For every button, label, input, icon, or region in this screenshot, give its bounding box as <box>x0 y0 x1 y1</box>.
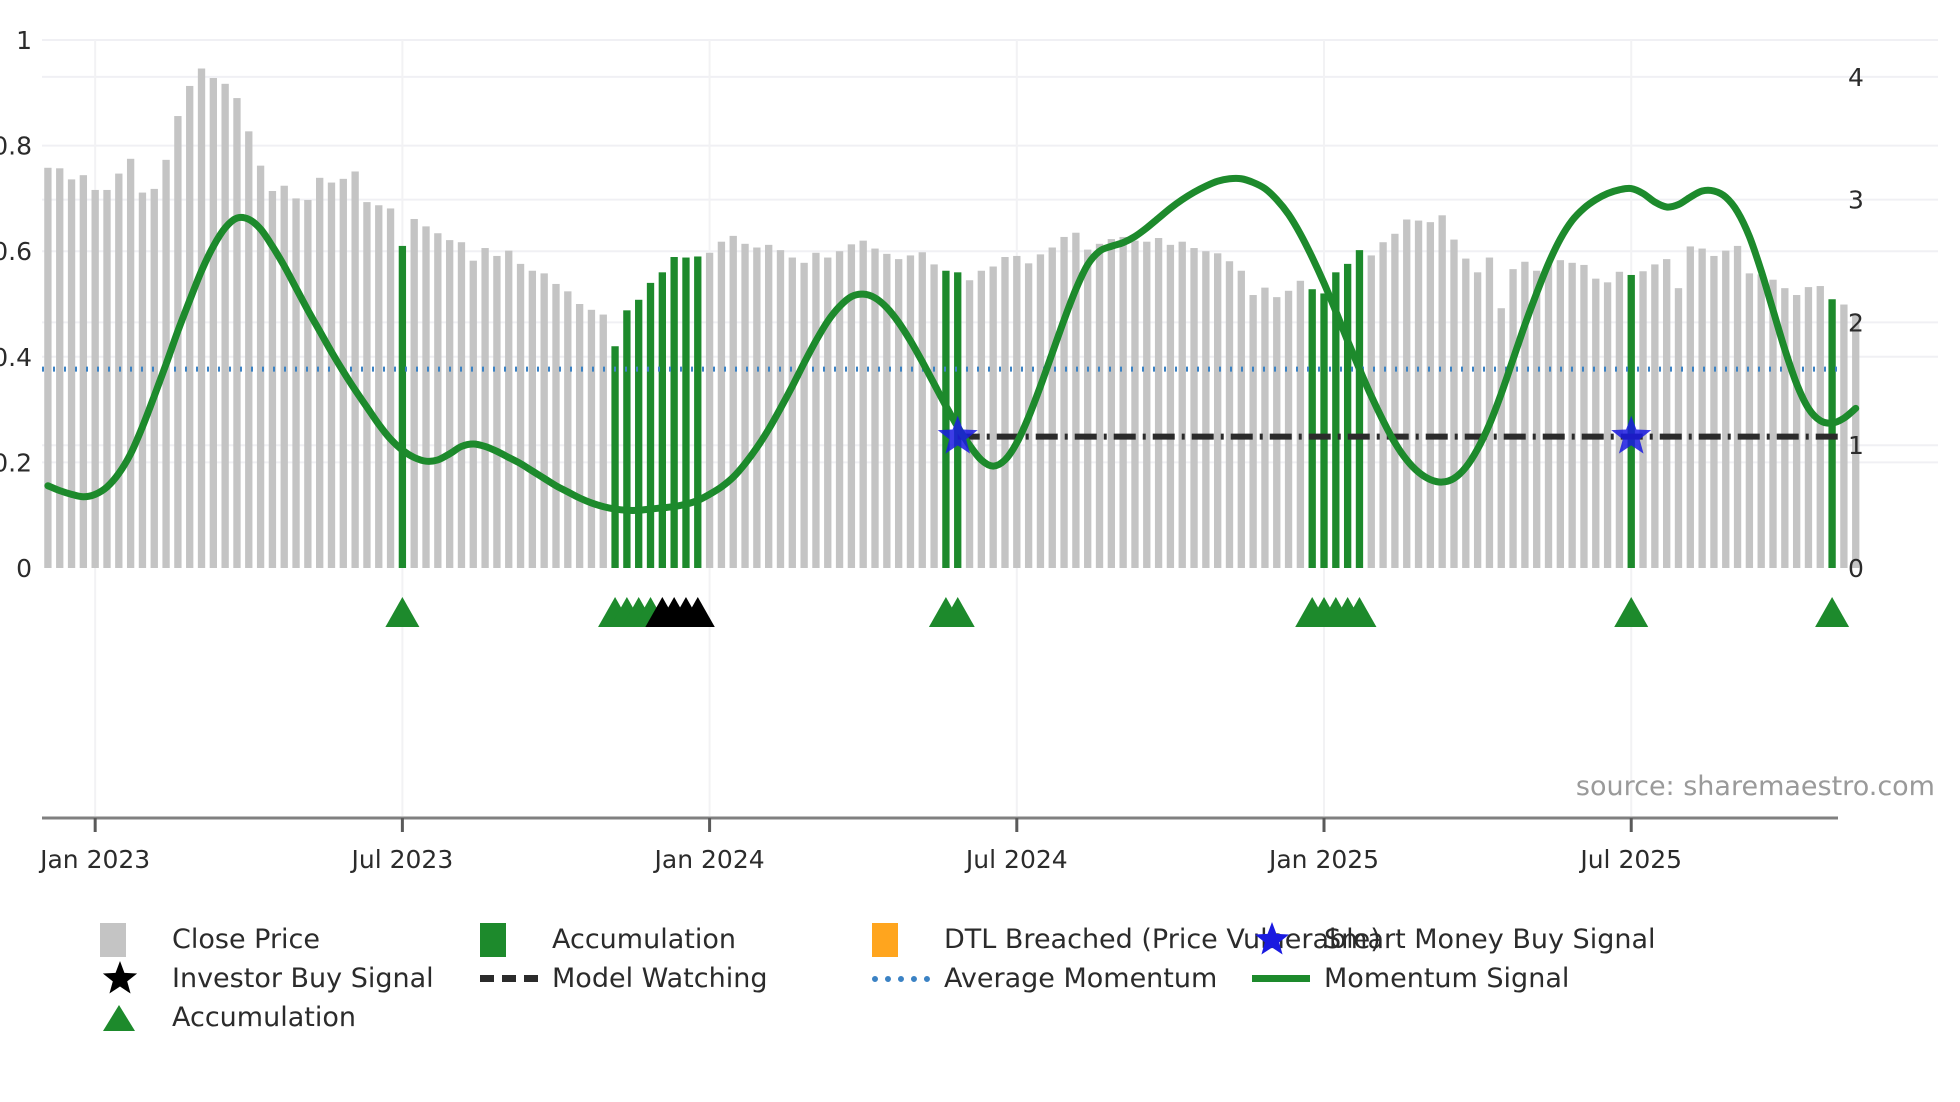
legend-item-label: Investor Buy Signal <box>172 965 434 992</box>
left-axis-tick-label: 1 <box>16 26 32 55</box>
left-axis-tick-label: 0 <box>16 554 32 583</box>
legend-item-label: Momentum Signal <box>1324 965 1569 992</box>
right-axis-tick-label: 4 <box>1848 63 1864 92</box>
legend-item[interactable]: Average Momentum <box>872 959 1252 998</box>
legend-row: Close PriceAccumulationDTL Breached (Pri… <box>100 920 1960 959</box>
left-axis-tick-label: 0.8 <box>0 132 32 161</box>
legend-item[interactable]: Model Watching <box>480 959 872 998</box>
left-axis-tick-label: 0.6 <box>0 237 32 266</box>
legend-item[interactable]: Momentum Signal <box>1252 959 1652 998</box>
legend-item-label: Smart Money Buy Signal <box>1324 926 1656 953</box>
legend-item[interactable]: DTL Breached (Price Vulnerable) <box>872 920 1252 959</box>
legend-row: Investor Buy SignalModel WatchingAverage… <box>100 959 1960 998</box>
x-axis-tick-label: Jan 2023 <box>38 845 150 874</box>
legend-item[interactable]: Investor Buy Signal <box>100 959 480 998</box>
right-axis-tick-label: 0 <box>1848 554 1864 583</box>
legend-swatch-accumulation <box>480 920 544 959</box>
legend-row: Accumulation <box>100 998 1960 1037</box>
legend-item-label: Close Price <box>172 926 320 953</box>
legend-item-label: Accumulation <box>172 1004 356 1031</box>
legend-star-investor-buy-icon <box>100 959 164 998</box>
legend-swatch-close-price <box>100 920 164 959</box>
chart-page: 00.20.40.60.81 01234 Jan 2023Jul 2023Jan… <box>0 0 1960 1102</box>
chart-plot-area: 00.20.40.60.81 01234 Jan 2023Jul 2023Jan… <box>0 0 1960 900</box>
legend-line-model-watching <box>480 959 544 998</box>
legend-item-label: Average Momentum <box>944 965 1217 992</box>
axis-lines <box>42 818 1838 832</box>
financial-chart-svg: 00.20.40.60.81 01234 Jan 2023Jul 2023Jan… <box>0 0 1960 900</box>
right-axis-tick-label: 1 <box>1848 431 1864 460</box>
x-axis-tick-label: Jul 2023 <box>350 845 454 874</box>
legend-item[interactable]: Accumulation <box>100 998 480 1037</box>
x-axis-tick-label: Jul 2024 <box>964 845 1068 874</box>
left-axis-ticks: 00.20.40.60.81 <box>0 26 32 583</box>
legend-item-label: Model Watching <box>552 965 767 992</box>
left-axis-tick-label: 0.2 <box>0 448 32 477</box>
legend-line-average-momentum <box>872 959 936 998</box>
x-axis-tick-label: Jul 2025 <box>1578 845 1682 874</box>
legend-line-momentum-signal <box>1252 959 1316 998</box>
close-price-bars <box>44 69 1859 568</box>
legend-item[interactable]: Close Price <box>100 920 480 959</box>
legend-item[interactable]: Smart Money Buy Signal <box>1252 920 1652 959</box>
right-axis-tick-label: 3 <box>1848 186 1864 215</box>
legend-item[interactable]: Accumulation <box>480 920 872 959</box>
legend-item-label: Accumulation <box>552 926 736 953</box>
left-axis-tick-label: 0.4 <box>0 343 32 372</box>
legend-triangle-accumulation-icon <box>100 998 164 1037</box>
x-axis-tick-label: Jan 2024 <box>653 845 765 874</box>
x-axis-tick-label: Jan 2025 <box>1267 845 1379 874</box>
source-attribution: source: sharemaestro.com <box>1576 771 1935 802</box>
legend-swatch-dtl-breached <box>872 920 936 959</box>
x-axis-ticks: Jan 2023Jul 2023Jan 2024Jul 2024Jan 2025… <box>38 845 1682 874</box>
accumulation-triangle-markers <box>385 597 1849 627</box>
chart-legend: Close PriceAccumulationDTL Breached (Pri… <box>0 905 1960 1095</box>
legend-star-smart-money-icon <box>1252 920 1316 959</box>
right-axis-tick-label: 2 <box>1848 308 1864 337</box>
